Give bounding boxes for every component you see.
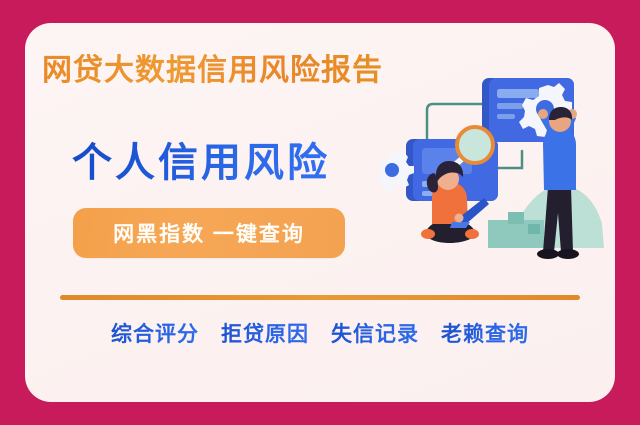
footer-item-score[interactable]: 综合评分 (111, 318, 199, 348)
query-button[interactable]: 网黑指数 一键查询 (73, 208, 345, 258)
footer-item-dishonesty[interactable]: 失信记录 (331, 318, 419, 348)
poster-card: 网贷大数据信用风险报告 个人信用风险 网黑指数 一键查询 综合评分 拒贷原因 失… (25, 23, 615, 402)
block-teal-3 (528, 224, 540, 234)
divider (60, 295, 580, 300)
block-teal-2 (508, 212, 524, 224)
footer-item-deadbeat[interactable]: 老赖查询 (441, 318, 529, 348)
page-subtitle: 个人信用风险 (72, 130, 330, 188)
footer-item-reason[interactable]: 拒贷原因 (221, 318, 309, 348)
poster-root: 网贷大数据信用风险报告 个人信用风险 网黑指数 一键查询 综合评分 拒贷原因 失… (0, 0, 640, 425)
footer-links: 综合评分 拒贷原因 失信记录 老赖查询 (25, 318, 615, 348)
page-title: 网贷大数据信用风险报告 (42, 45, 383, 89)
data-analysis-illustration (380, 48, 615, 288)
